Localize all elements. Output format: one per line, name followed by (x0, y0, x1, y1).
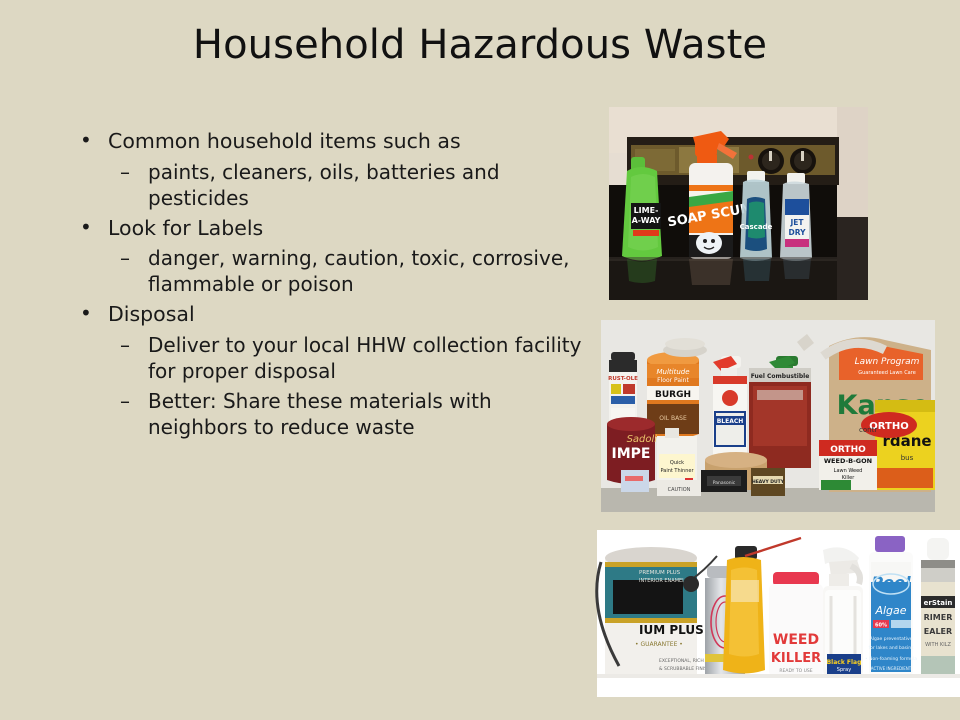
bullet-level2: – Better: Share these materials with nei… (62, 388, 582, 440)
svg-text:contr: contr (859, 426, 877, 434)
svg-text:Floor Paint: Floor Paint (657, 377, 689, 384)
svg-text:JET: JET (789, 218, 804, 227)
photo-products: PREMIUM PLUS INTERIOR ENAMEL IUM PLUS • … (579, 522, 960, 697)
svg-text:WEED: WEED (773, 632, 819, 648)
svg-text:READY TO USE: READY TO USE (779, 668, 812, 674)
svg-text:bus: bus (901, 454, 914, 462)
photo-garage: Lawn Program Guaranteed Lawn Care Kanse … (601, 320, 935, 512)
bullet-dot-icon: • (80, 127, 92, 153)
svg-text:• GUARANTEE •: • GUARANTEE • (635, 641, 683, 648)
svg-text:Cascade: Cascade (740, 223, 773, 231)
svg-text:• Non-foaming formula: • Non-foaming formula (865, 656, 917, 662)
svg-text:IMPE: IMPE (612, 446, 651, 462)
svg-text:ACTIVE INGREDIENT: ACTIVE INGREDIENT (871, 666, 912, 671)
bullet-dash-icon: – (120, 388, 130, 414)
svg-text:Lawn Weed: Lawn Weed (834, 468, 863, 474)
bullet-text: Look for Labels (108, 216, 263, 240)
slide-canvas: Household Hazardous Waste • Common house… (0, 0, 960, 720)
svg-text:Spray: Spray (837, 667, 851, 673)
svg-text:60%: 60% (875, 623, 887, 629)
slide-body-text: • Common household items such as – paint… (62, 128, 582, 444)
svg-text:RUST-OLE: RUST-OLE (608, 376, 638, 382)
bullet-text: Common household items such as (108, 129, 461, 153)
bullet-dash-icon: – (120, 245, 130, 271)
svg-text:CAUTION: CAUTION (668, 487, 691, 493)
svg-text:LIME-: LIME- (634, 206, 659, 215)
svg-text:Guaranteed Lawn Care: Guaranteed Lawn Care (858, 370, 916, 376)
svg-text:Multitude: Multitude (656, 368, 689, 376)
svg-text:OIL BASE: OIL BASE (659, 415, 687, 422)
svg-text:EALER: EALER (924, 627, 952, 636)
svg-text:erStain: erStain (924, 599, 953, 607)
svg-text:HEAVY DUTY: HEAVY DUTY (752, 479, 785, 485)
bullet-level1: • Disposal (62, 301, 582, 328)
svg-text:DRY: DRY (788, 228, 806, 237)
svg-text:INTERIOR ENAMEL: INTERIOR ENAMEL (639, 578, 685, 584)
svg-text:Paint Thinner: Paint Thinner (660, 468, 694, 474)
svg-text:KILLER: KILLER (771, 651, 821, 666)
slide-title: Household Hazardous Waste (0, 22, 960, 68)
bullet-level2: – Deliver to your local HHW collection f… (62, 332, 582, 384)
svg-text:for lakes and basins: for lakes and basins (869, 645, 915, 651)
svg-text:BLEACH: BLEACH (717, 418, 744, 425)
svg-text:Black Flag: Black Flag (827, 659, 862, 666)
bullet-text: Disposal (108, 302, 195, 326)
bullet-level2: – danger, warning, caution, toxic, corro… (62, 245, 582, 297)
bullet-dot-icon: • (80, 300, 92, 326)
bullet-text: paints, cleaners, oils, batteries and pe… (148, 160, 500, 210)
bullet-level1: • Look for Labels (62, 215, 582, 242)
bullet-text: Deliver to your local HHW collection fac… (148, 333, 581, 383)
bullet-dash-icon: – (120, 159, 130, 185)
svg-text:Lawn Program: Lawn Program (855, 357, 920, 367)
svg-text:Panasonic: Panasonic (713, 480, 736, 486)
svg-text:& SCRUBBABLE FINISH: & SCRUBBABLE FINISH (659, 666, 710, 672)
bullet-level1: • Common household items such as (62, 128, 582, 155)
svg-text:Quick: Quick (670, 460, 684, 466)
svg-text:PREMIUM PLUS: PREMIUM PLUS (639, 570, 681, 576)
svg-text:Algae: Algae (874, 604, 906, 617)
bullet-text: Better: Share these materials with neigh… (148, 389, 492, 439)
bullet-dash-icon: – (120, 332, 130, 358)
svg-text:Pool: Pool (871, 573, 911, 592)
svg-text:RIMER: RIMER (924, 613, 953, 622)
bullet-dot-icon: • (80, 214, 92, 240)
svg-text:ORTHO: ORTHO (830, 445, 866, 455)
bullet-text: danger, warning, caution, toxic, corrosi… (148, 246, 569, 296)
photo-cleaners: LIME- A-WAY SOAP SCUM Cascade (609, 107, 868, 300)
svg-text:A-WAY: A-WAY (632, 216, 661, 225)
svg-text:WEED-B-GON: WEED-B-GON (824, 457, 872, 465)
svg-text:Algae preventative: Algae preventative (870, 636, 913, 642)
svg-text:BURGH: BURGH (655, 390, 691, 400)
svg-text:WITH KILZ: WITH KILZ (925, 642, 951, 648)
svg-text:Fuel Combustible: Fuel Combustible (751, 373, 810, 380)
svg-text:IUM PLUS: IUM PLUS (639, 623, 704, 637)
bullet-level2: – paints, cleaners, oils, batteries and … (62, 159, 582, 211)
